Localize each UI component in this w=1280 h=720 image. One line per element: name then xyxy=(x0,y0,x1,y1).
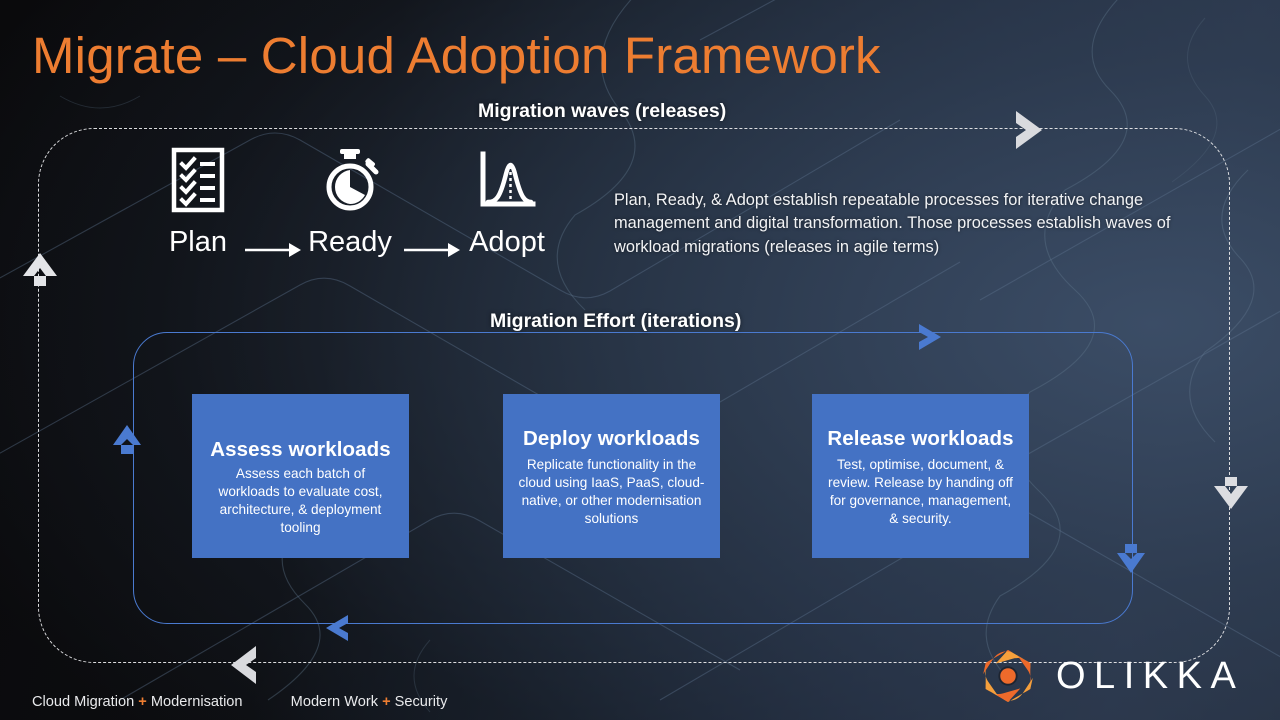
card-assess-workloads[interactable]: Assess workloads Assess each batch of wo… xyxy=(192,394,409,558)
card-heading: Deploy workloads xyxy=(523,427,700,451)
plus-icon: + xyxy=(138,694,147,710)
card-body: Test, optimise, document, & review. Rele… xyxy=(824,456,1017,528)
footer-taglines: Cloud Migration + Modernisation Modern W… xyxy=(32,694,447,710)
effort-loop-arrow-right xyxy=(913,322,951,352)
footer-modernisation: Modernisation xyxy=(151,694,243,710)
footer-security: Security xyxy=(395,694,448,710)
aperture-hexagon-icon xyxy=(977,645,1039,707)
card-deploy-workloads[interactable]: Deploy workloads Replicate functionality… xyxy=(503,394,720,558)
effort-loop-arrow-left xyxy=(316,613,354,643)
plus-icon-2: + xyxy=(382,694,391,710)
footer-cloud-migration: Cloud Migration xyxy=(32,694,134,710)
phase-label: Adopt xyxy=(455,226,559,259)
waves-loop-arrow-down xyxy=(1209,472,1253,514)
effort-loop-arrow-down xyxy=(1114,540,1148,576)
card-release-workloads[interactable]: Release workloads Test, optimise, docume… xyxy=(812,394,1029,558)
card-heading: Assess workloads xyxy=(210,438,391,462)
phase-adopt: Adopt xyxy=(455,146,559,259)
card-body: Assess each batch of workloads to evalua… xyxy=(204,465,397,537)
waves-loop-arrow-left xyxy=(220,643,262,687)
card-heading: Release workloads xyxy=(827,427,1013,451)
phase-arrow-plan-to-ready xyxy=(243,240,307,260)
caption-migration-effort: Migration Effort (iterations) xyxy=(490,310,741,333)
caption-migration-waves: Migration waves (releases) xyxy=(478,100,726,123)
phase-arrow-ready-to-adopt xyxy=(402,240,466,260)
phase-plan: Plan xyxy=(150,146,246,259)
olikka-wordmark: OLIKKA xyxy=(1056,655,1244,698)
phase-sequence: Plan Ready xyxy=(150,146,580,276)
phase-label: Plan xyxy=(150,226,246,259)
checklist-icon xyxy=(150,146,246,214)
waves-loop-arrow-up xyxy=(19,248,61,290)
bell-curve-chart-icon xyxy=(455,146,559,214)
card-body: Replicate functionality in the cloud usi… xyxy=(515,456,708,528)
phase-label: Ready xyxy=(300,226,400,259)
olikka-logo: OLIKKA xyxy=(977,645,1244,707)
waves-loop-arrow-right xyxy=(1010,107,1054,153)
description-paragraph: Plan, Ready, & Adopt establish repeatabl… xyxy=(614,189,1206,259)
phase-ready: Ready xyxy=(300,146,400,259)
slide-canvas: Migrate – Cloud Adoption Framework Migra… xyxy=(0,0,1280,720)
page-title: Migrate – Cloud Adoption Framework xyxy=(32,26,881,85)
footer-modern-work: Modern Work xyxy=(291,694,378,710)
stopwatch-icon xyxy=(300,146,400,214)
effort-loop-arrow-up xyxy=(110,422,144,458)
